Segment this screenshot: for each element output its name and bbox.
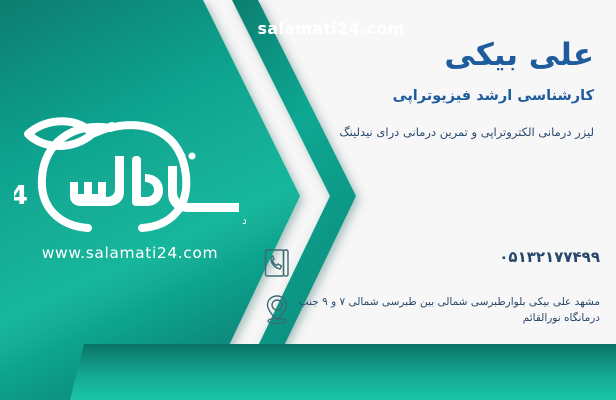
address-text: مشهد علی بیکی بلوارطبرسی شمالی بین طبرسی… — [294, 290, 600, 327]
location-pin-icon — [260, 290, 294, 328]
footer-bar — [0, 344, 616, 400]
phone-book-icon — [260, 244, 294, 282]
person-title: کارشناسی ارشد فیزیوتراپی — [254, 87, 594, 106]
business-card: 24 به‌راحتی یک لبخند www.salamati24.com … — [0, 0, 616, 400]
person-description: لیزر درمانی الکتروتراپی و تمرین درمانی د… — [254, 124, 594, 140]
contact-row-phone: ۰۵۱۳۲۱۷۷۴۹۹ — [250, 244, 600, 282]
phone-number[interactable]: ۰۵۱۳۲۱۷۷۴۹۹ — [294, 244, 600, 266]
contact-details: ۰۵۱۳۲۱۷۷۴۹۹ مشهد علی بیکی بلوارطبرسی شما… — [250, 244, 600, 336]
footer-website[interactable]: salamati24.com — [0, 0, 616, 56]
contact-row-address: مشهد علی بیکی بلوارطبرسی شمالی بین طبرسی… — [250, 290, 600, 328]
